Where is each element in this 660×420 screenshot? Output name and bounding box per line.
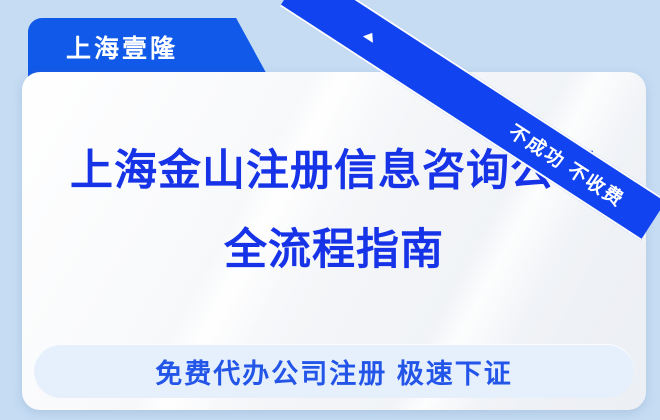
promo-poster: 上海壹隆 上海金山注册信息咨询公司 全流程指南 免费代办公司注册 极速下证 不成… [0, 0, 660, 420]
brand-tab[interactable]: 上海壹隆 [28, 18, 270, 80]
title-line-secondary: 全流程指南 [22, 229, 646, 272]
promo-banner[interactable]: 免费代办公司注册 极速下证 [34, 344, 634, 398]
promo-banner-label: 免费代办公司注册 极速下证 [155, 352, 513, 391]
triangle-up-icon [363, 30, 377, 43]
brand-tab-label: 上海壹隆 [66, 37, 178, 62]
content-card: 上海金山注册信息咨询公司 全流程指南 免费代办公司注册 极速下证 [22, 72, 646, 410]
